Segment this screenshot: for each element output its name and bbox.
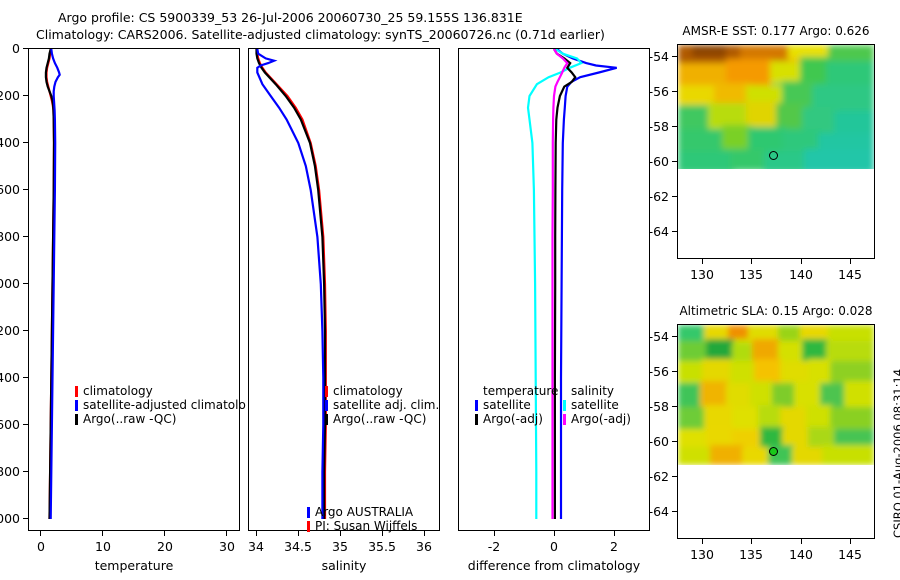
ytick-mark	[672, 406, 677, 407]
series-satellite-adjusted	[257, 49, 323, 519]
legend-label: climatology	[333, 384, 403, 398]
xtick-label: 145	[834, 267, 866, 282]
ytick-mark	[23, 236, 28, 237]
legend-label: Argo(-adj)	[483, 412, 543, 426]
ytick-label: 1000	[0, 276, 20, 291]
series-argo-raw	[257, 49, 326, 519]
xtick-mark	[614, 531, 615, 536]
legend-label: Argo(-adj)	[571, 412, 631, 426]
ytick-mark	[23, 48, 28, 49]
ytick-label: -58	[638, 119, 669, 134]
ytick-label: -60	[638, 154, 669, 169]
legend-header-salinity: salinity	[563, 384, 631, 398]
temperature-plot-area	[29, 49, 239, 530]
credit-swatch-program	[307, 507, 310, 518]
xtick-label: 35	[324, 539, 356, 554]
xtick-mark	[801, 259, 802, 264]
ytick-mark	[672, 511, 677, 512]
credit-row: Argo AUSTRALIA	[307, 505, 417, 519]
credit-label-program: Argo AUSTRALIA	[315, 505, 413, 519]
legend-header-temperature: temperature	[475, 384, 558, 398]
ytick-mark	[23, 518, 28, 519]
xtick-label: 140	[785, 267, 817, 282]
legend-salinity: climatology satellite adj. clim. Argo(..…	[325, 384, 439, 426]
xtick-label: 10	[92, 539, 114, 554]
ytick-mark	[672, 336, 677, 337]
legend-swatch-argo	[325, 414, 328, 425]
xtick-label: 135	[735, 267, 767, 282]
xtick-mark	[40, 531, 41, 536]
legend-item: satellite-adjusted climatolo	[75, 398, 246, 412]
ytick-label: -64	[638, 224, 669, 239]
xtick-mark	[702, 539, 703, 544]
ytick-label: 800	[0, 229, 20, 244]
legend-item: climatology	[325, 384, 439, 398]
ytick-mark	[23, 189, 28, 190]
difference-plot-area	[459, 49, 649, 530]
legend-temperature: climatology satellite-adjusted climatolo…	[75, 384, 246, 426]
ytick-mark	[672, 476, 677, 477]
ytick-label: -56	[638, 364, 669, 379]
ytick-label: 2000	[0, 511, 20, 526]
figure-title-line-1: Argo profile: CS 5900339_53 26-Jul-2006 …	[58, 10, 523, 25]
ytick-label: -64	[638, 504, 669, 519]
ytick-label: -62	[638, 469, 669, 484]
xtick-mark	[850, 259, 851, 264]
legend-label: Argo(..raw -QC)	[83, 412, 176, 426]
legend-item: satellite adj. clim.	[325, 398, 439, 412]
sla-raster	[678, 325, 874, 538]
argo-position-marker	[769, 151, 778, 160]
map-panel-sla	[677, 324, 875, 539]
ytick-mark	[23, 95, 28, 96]
xtick-mark	[554, 531, 555, 536]
legend-label: satellite adj. clim.	[333, 398, 439, 412]
legend-label: satellite	[483, 398, 531, 412]
legend-swatch-temp-satellite	[475, 400, 478, 411]
credit-row: PI: Susan Wijffels	[307, 519, 417, 533]
xtick-label: 135	[735, 547, 767, 562]
ytick-mark	[23, 330, 28, 331]
figure-canvas: Argo profile: CS 5900339_53 26-Jul-2006 …	[0, 0, 900, 580]
xaxis-title-salinity: salinity	[248, 558, 440, 573]
salinity-plot-area	[249, 49, 439, 530]
xtick-mark	[751, 539, 752, 544]
legend-label: satellite-adjusted climatolo	[83, 398, 246, 412]
xtick-label: 20	[154, 539, 176, 554]
legend-swatch-argo	[75, 414, 78, 425]
legend-swatch-sal-argo-adj	[563, 414, 566, 425]
xtick-mark	[164, 531, 165, 536]
ytick-label: -58	[638, 399, 669, 414]
ytick-mark	[23, 471, 28, 472]
series-temperature-satellite	[557, 49, 617, 519]
ytick-label: 0	[0, 41, 20, 56]
xtick-label: 130	[686, 547, 718, 562]
legend-item: Argo(..raw -QC)	[325, 412, 439, 426]
panel-temperature: climatology satellite-adjusted climatolo…	[28, 48, 240, 531]
legend-item: Argo(..raw -QC)	[75, 412, 246, 426]
legend-difference-temperature: temperature satellite Argo(-adj)	[475, 384, 558, 426]
xtick-mark	[801, 539, 802, 544]
panel-difference: temperature satellite Argo(-adj) salinit…	[458, 48, 650, 531]
map-panel-sst	[677, 44, 875, 259]
ytick-mark	[672, 161, 677, 162]
legend-item: satellite	[475, 398, 558, 412]
legend-item: Argo(-adj)	[475, 412, 558, 426]
ytick-mark	[672, 126, 677, 127]
legend-swatch-climatology	[75, 386, 78, 397]
map-title-sla: Altimetric SLA: 0.15 Argo: 0.028	[677, 304, 875, 318]
ytick-mark	[672, 196, 677, 197]
ytick-mark	[672, 231, 677, 232]
xtick-label: 36	[408, 539, 440, 554]
legend-label: satellite	[571, 398, 619, 412]
ytick-mark	[672, 56, 677, 57]
xtick-label: 34.5	[278, 539, 318, 554]
argo-credit: Argo AUSTRALIA PI: Susan Wijffels	[307, 505, 417, 533]
panel-salinity: climatology satellite adj. clim. Argo(..…	[248, 48, 440, 531]
ytick-mark	[672, 441, 677, 442]
legend-swatch-satellite-adjusted	[325, 400, 328, 411]
legend-swatch-climatology	[325, 386, 328, 397]
xtick-label: 35.5	[362, 539, 402, 554]
legend-label: climatology	[83, 384, 153, 398]
xtick-label: 130	[686, 267, 718, 282]
xaxis-title-temperature: temperature	[28, 558, 240, 573]
series-climatology	[257, 49, 326, 519]
xtick-label: 0	[32, 539, 50, 554]
legend-difference-salinity: salinity satellite Argo(-adj)	[563, 384, 631, 426]
legend-item: satellite	[563, 398, 631, 412]
ytick-label: -54	[638, 49, 669, 64]
ytick-label: -56	[638, 84, 669, 99]
ytick-label: -54	[638, 329, 669, 344]
ytick-mark	[23, 377, 28, 378]
xtick-label: 140	[785, 547, 817, 562]
ytick-label: 1800	[0, 464, 20, 479]
ytick-mark	[672, 371, 677, 372]
map-title-sst: AMSR-E SST: 0.177 Argo: 0.626	[677, 24, 875, 38]
xtick-label: 2	[604, 539, 624, 554]
legend-swatch-temp-argo-adj	[475, 414, 478, 425]
xtick-label: -2	[480, 539, 508, 554]
xtick-mark	[102, 531, 103, 536]
xtick-mark	[226, 531, 227, 536]
credit-swatch-pi	[307, 521, 310, 532]
legend-item: climatology	[75, 384, 246, 398]
legend-swatch-sal-satellite	[563, 400, 566, 411]
legend-swatch-satellite-adjusted	[75, 400, 78, 411]
ytick-label: -62	[638, 189, 669, 204]
xtick-mark	[340, 531, 341, 536]
xtick-mark	[424, 531, 425, 536]
xtick-mark	[494, 531, 495, 536]
ytick-label: 400	[0, 135, 20, 150]
credit-label-pi: PI: Susan Wijffels	[315, 519, 417, 533]
xtick-label: 34	[240, 539, 272, 554]
xtick-label: 0	[544, 539, 564, 554]
ytick-label: -60	[638, 434, 669, 449]
xtick-label: 30	[216, 539, 238, 554]
ytick-mark	[23, 424, 28, 425]
ytick-mark	[23, 283, 28, 284]
ytick-label: 200	[0, 88, 20, 103]
ytick-mark	[672, 91, 677, 92]
csiro-timestamp: CSIRO 01-Aug-2006 08:31:14	[891, 369, 900, 538]
xtick-mark	[256, 531, 257, 536]
ytick-mark	[23, 142, 28, 143]
xtick-label: 145	[834, 547, 866, 562]
xaxis-title-difference: difference from climatology	[458, 558, 650, 573]
argo-position-marker	[769, 447, 778, 456]
xtick-mark	[702, 259, 703, 264]
legend-label: Argo(..raw -QC)	[333, 412, 426, 426]
ytick-label: 600	[0, 182, 20, 197]
ytick-label: 1600	[0, 417, 20, 432]
xtick-mark	[751, 259, 752, 264]
ytick-label: 1400	[0, 370, 20, 385]
legend-item: Argo(-adj)	[563, 412, 631, 426]
figure-title-line-2: Climatology: CARS2006. Satellite-adjuste…	[36, 27, 605, 42]
ytick-label: 1200	[0, 323, 20, 338]
xtick-mark	[298, 531, 299, 536]
xtick-mark	[382, 531, 383, 536]
xtick-mark	[850, 539, 851, 544]
